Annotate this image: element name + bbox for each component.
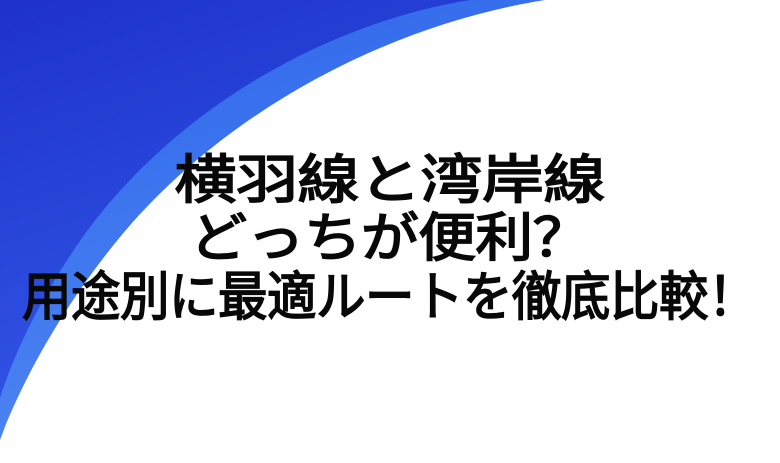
title-block: 横羽線と湾岸線 どっちが便利？ 用途別に最適ルートを徹底比較！ [0, 0, 780, 463]
title-line-1: 横羽線と湾岸線 [175, 152, 605, 210]
title-stack: 横羽線と湾岸線 どっちが便利？ 用途別に最適ルートを徹底比較！ [0, 152, 780, 327]
title-line-2: どっちが便利？ [190, 210, 590, 268]
thumbnail-canvas: 横羽線と湾岸線 どっちが便利？ 用途別に最適ルートを徹底比較！ [0, 0, 780, 463]
title-line-3: 用途別に最適ルートを徹底比較！ [22, 269, 757, 327]
